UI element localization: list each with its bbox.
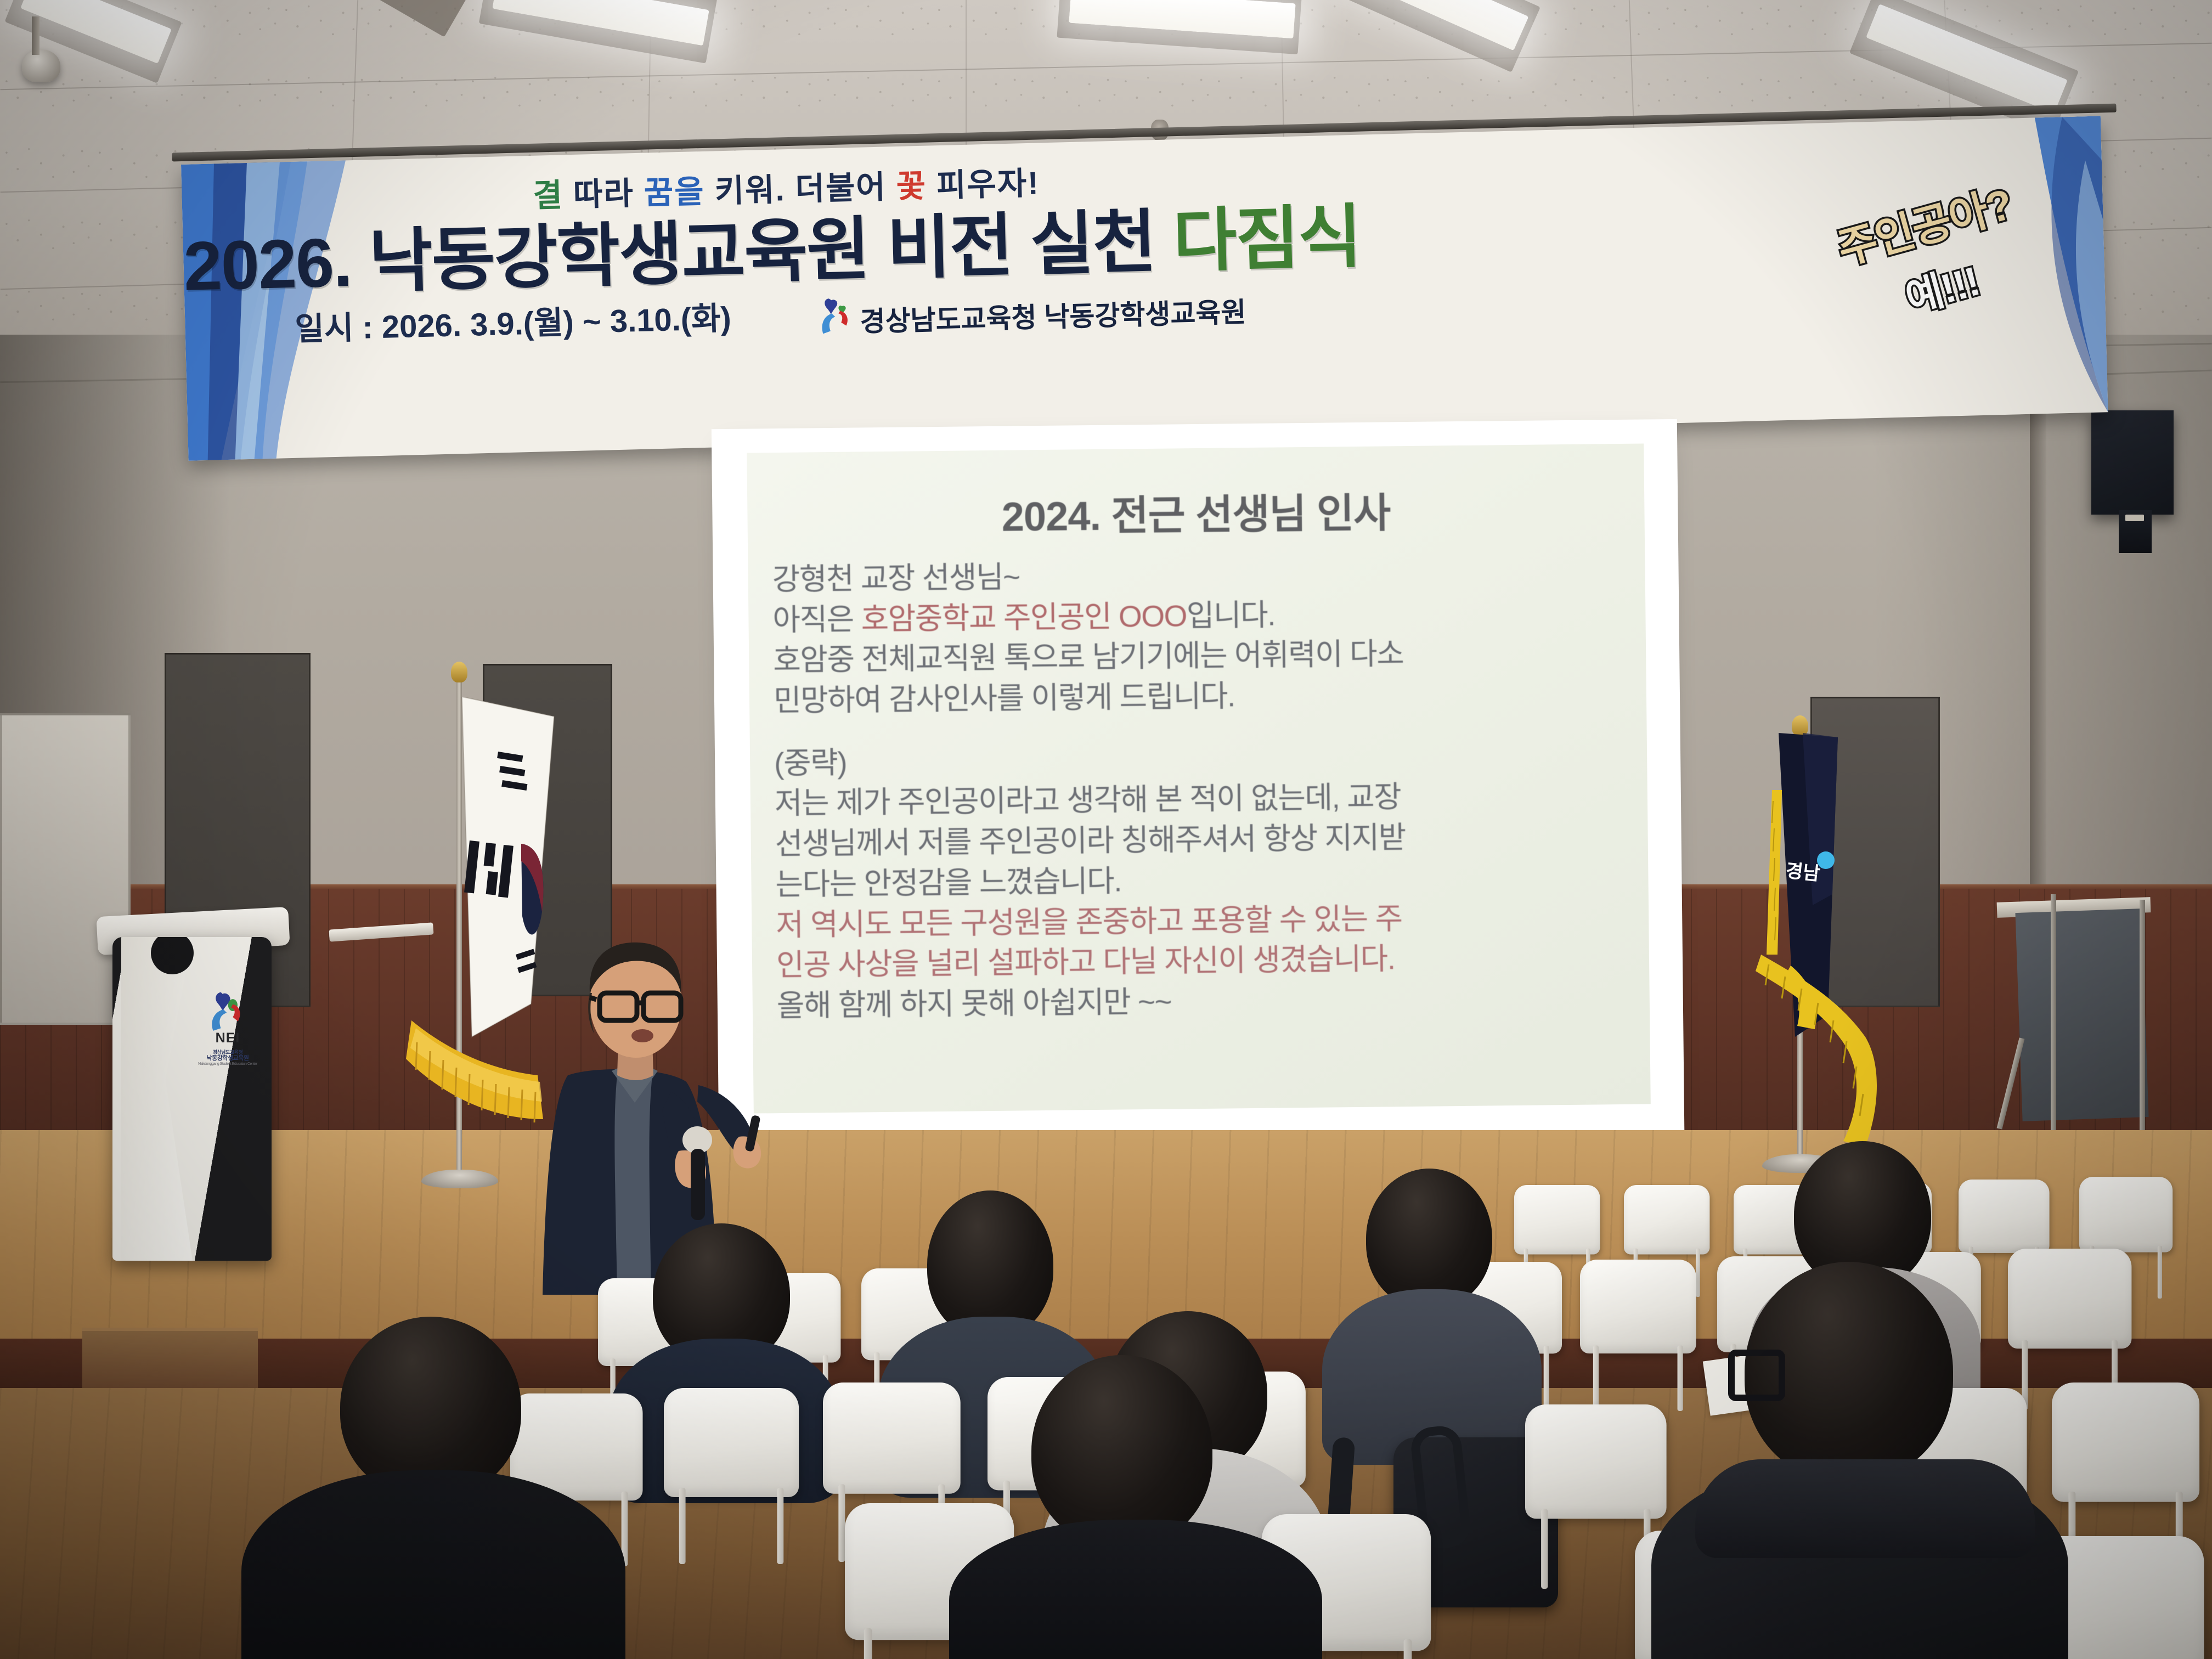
pa-speaker bbox=[2091, 410, 2174, 515]
audience-torso bbox=[241, 1470, 625, 1659]
auditorium-scene: 결 따라 꿈을 키워. 더불어 꽃 피우자! 2026. 낙동강학생교육원 비전… bbox=[0, 0, 2212, 1659]
banner-surface: 결 따라 꿈을 키워. 더불어 꽃 피우자! 2026. 낙동강학생교육원 비전… bbox=[181, 116, 2108, 460]
door-left-far[interactable] bbox=[0, 713, 131, 1025]
nei-logo-icon bbox=[202, 990, 253, 1032]
ceiling-spotlight bbox=[22, 49, 60, 82]
table-leg bbox=[2140, 900, 2145, 1130]
flag-fringe-right-edge bbox=[1750, 790, 1788, 971]
slide-body: 강형천 교장 선생님~ 아직은 호암중학교 주인공인 OOO입니다. 호암중 전… bbox=[772, 551, 1626, 1026]
podium-logo-subtitle-top: 경상남도교육청 bbox=[195, 1049, 261, 1055]
slide-p1-line-2-pre: 아직은 bbox=[772, 602, 861, 637]
chair[interactable] bbox=[664, 1388, 799, 1564]
nei-logo-wordmark: NEI bbox=[195, 1030, 261, 1046]
podium-logo-subtitle-roman: Nakdonggang Student Education Center bbox=[195, 1062, 261, 1066]
slide-p1-highlight: 호암중학교 주인공인 OOO bbox=[861, 599, 1187, 636]
banner-title-accent: 다짐식 bbox=[1172, 198, 1362, 280]
podium-body: NEI 경상남도교육청 낙동강학생교육원 Nakdonggang Student… bbox=[112, 937, 272, 1261]
banner-title-main: 낙동강학생교육원 bbox=[368, 210, 870, 300]
flag-finial-left bbox=[451, 662, 467, 682]
podium-scoop bbox=[121, 937, 193, 1261]
flag-base-left bbox=[421, 1170, 498, 1188]
presentation-slide: 2024. 전근 선생님 인사 강형천 교장 선생님~ 아직은 호암중학교 주인… bbox=[747, 444, 1651, 1114]
event-banner: 결 따라 꿈을 키워. 더불어 꽃 피우자! 2026. 낙동강학생교육원 비전… bbox=[181, 116, 2108, 471]
podium-logo-subtitle-main: 낙동강학생교육원 bbox=[207, 1055, 249, 1062]
audience-head bbox=[1031, 1355, 1212, 1547]
folded-table-panel bbox=[2015, 909, 2148, 1121]
jacket-hood bbox=[1695, 1459, 2035, 1558]
podium-logo: NEI 경상남도교육청 낙동강학생교육원 Nakdonggang Student… bbox=[195, 990, 261, 1066]
slide-p3-line-3: 올해 함께 하지 못해 아쉽지만 ~~ bbox=[776, 977, 1626, 1026]
banner-organization: 경상남도교육청 낙동강학생교육원 bbox=[860, 290, 1247, 340]
spotlight-stem bbox=[32, 16, 39, 55]
banner-title-year: 2026. bbox=[183, 223, 352, 305]
audience-head bbox=[1366, 1169, 1492, 1308]
nei-logo-icon bbox=[815, 295, 858, 337]
chair[interactable] bbox=[1580, 1260, 1696, 1411]
flag-fringe-right bbox=[1756, 955, 1915, 1174]
podium[interactable]: NEI 경상남도교육청 낙동강학생교육원 Nakdonggang Student… bbox=[112, 927, 272, 1267]
podium-logo-subtitle: 경상남도교육청 낙동강학생교육원 Nakdonggang Student Edu… bbox=[195, 1049, 261, 1066]
table-leg bbox=[2051, 894, 2056, 1130]
pa-speaker-label bbox=[2125, 515, 2144, 521]
svg-text:경남: 경남 bbox=[1785, 860, 1821, 884]
projection-screen: 2024. 전근 선생님 인사 강형천 교장 선생님~ 아직은 호암중학교 주인… bbox=[727, 429, 1669, 1130]
audience-torso bbox=[949, 1520, 1322, 1659]
eyeglasses bbox=[1728, 1350, 1785, 1401]
banner-title-mid: 비전 실천 bbox=[886, 203, 1156, 287]
slide-title: 2024. 전근 선생님 인사 bbox=[771, 478, 1621, 545]
slide-p1-line-2-post: 입니다. bbox=[1186, 597, 1275, 633]
